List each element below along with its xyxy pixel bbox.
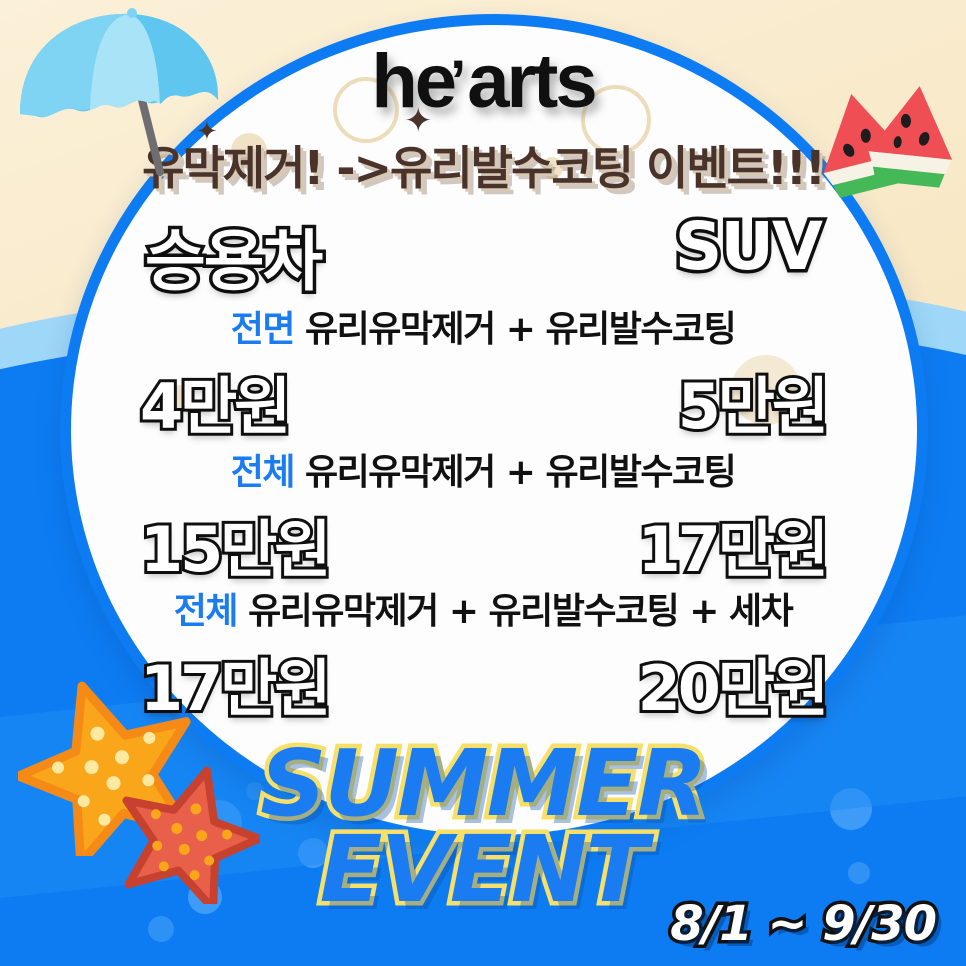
column-header-passenger-car: 승용차 bbox=[145, 208, 321, 304]
column-header-suv: SUV bbox=[675, 208, 821, 285]
price-passenger-car: 4만원 bbox=[140, 356, 288, 446]
logo-text-suffix: arts bbox=[467, 39, 594, 124]
price-pair: 4만원 5만원 bbox=[60, 356, 906, 436]
price-row: 전면 유리유막제거 + 유리발수코팅 4만원 5만원 bbox=[60, 300, 906, 436]
price-suv: 20만원 bbox=[638, 638, 826, 728]
event-title-line1: SUMMER bbox=[0, 742, 966, 827]
logo-apostrophe: ’ bbox=[450, 49, 463, 114]
beach-umbrella-icon bbox=[8, 4, 228, 204]
service-description: 전체 유리유막제거 + 유리발수코팅 bbox=[60, 443, 906, 495]
bubble-decor bbox=[148, 916, 174, 942]
service-items: 유리유막제거 + 유리발수코팅 bbox=[294, 452, 735, 493]
vehicle-columns-header: 승용차 SUV bbox=[60, 208, 906, 298]
price-passenger-car: 15만원 bbox=[140, 499, 328, 589]
price-row: 전체 유리유막제거 + 유리발수코팅 15만원 17만원 bbox=[60, 443, 906, 579]
promo-poster: he’arts ✦ ✦ 유막제거! ->유리발수코팅 이벤트!!! 승용차 SU… bbox=[0, 0, 966, 966]
service-scope: 전체 bbox=[174, 591, 237, 632]
service-items: 유리유막제거 + 유리발수코팅 bbox=[294, 309, 735, 350]
price-pair: 15만원 17만원 bbox=[60, 499, 906, 579]
watermelon-icon bbox=[812, 82, 962, 208]
service-description: 전체 유리유막제거 + 유리발수코팅 + 세차 bbox=[60, 582, 906, 634]
service-scope: 전체 bbox=[231, 452, 294, 493]
service-description: 전면 유리유막제거 + 유리발수코팅 bbox=[60, 300, 906, 352]
event-dates: 8/1 ~ 9/30 bbox=[670, 896, 936, 952]
service-scope: 전면 bbox=[231, 309, 294, 350]
price-suv: 5만원 bbox=[678, 356, 826, 446]
price-suv: 17만원 bbox=[638, 499, 826, 589]
service-items: 유리유막제거 + 유리발수코팅 + 세차 bbox=[237, 591, 792, 632]
